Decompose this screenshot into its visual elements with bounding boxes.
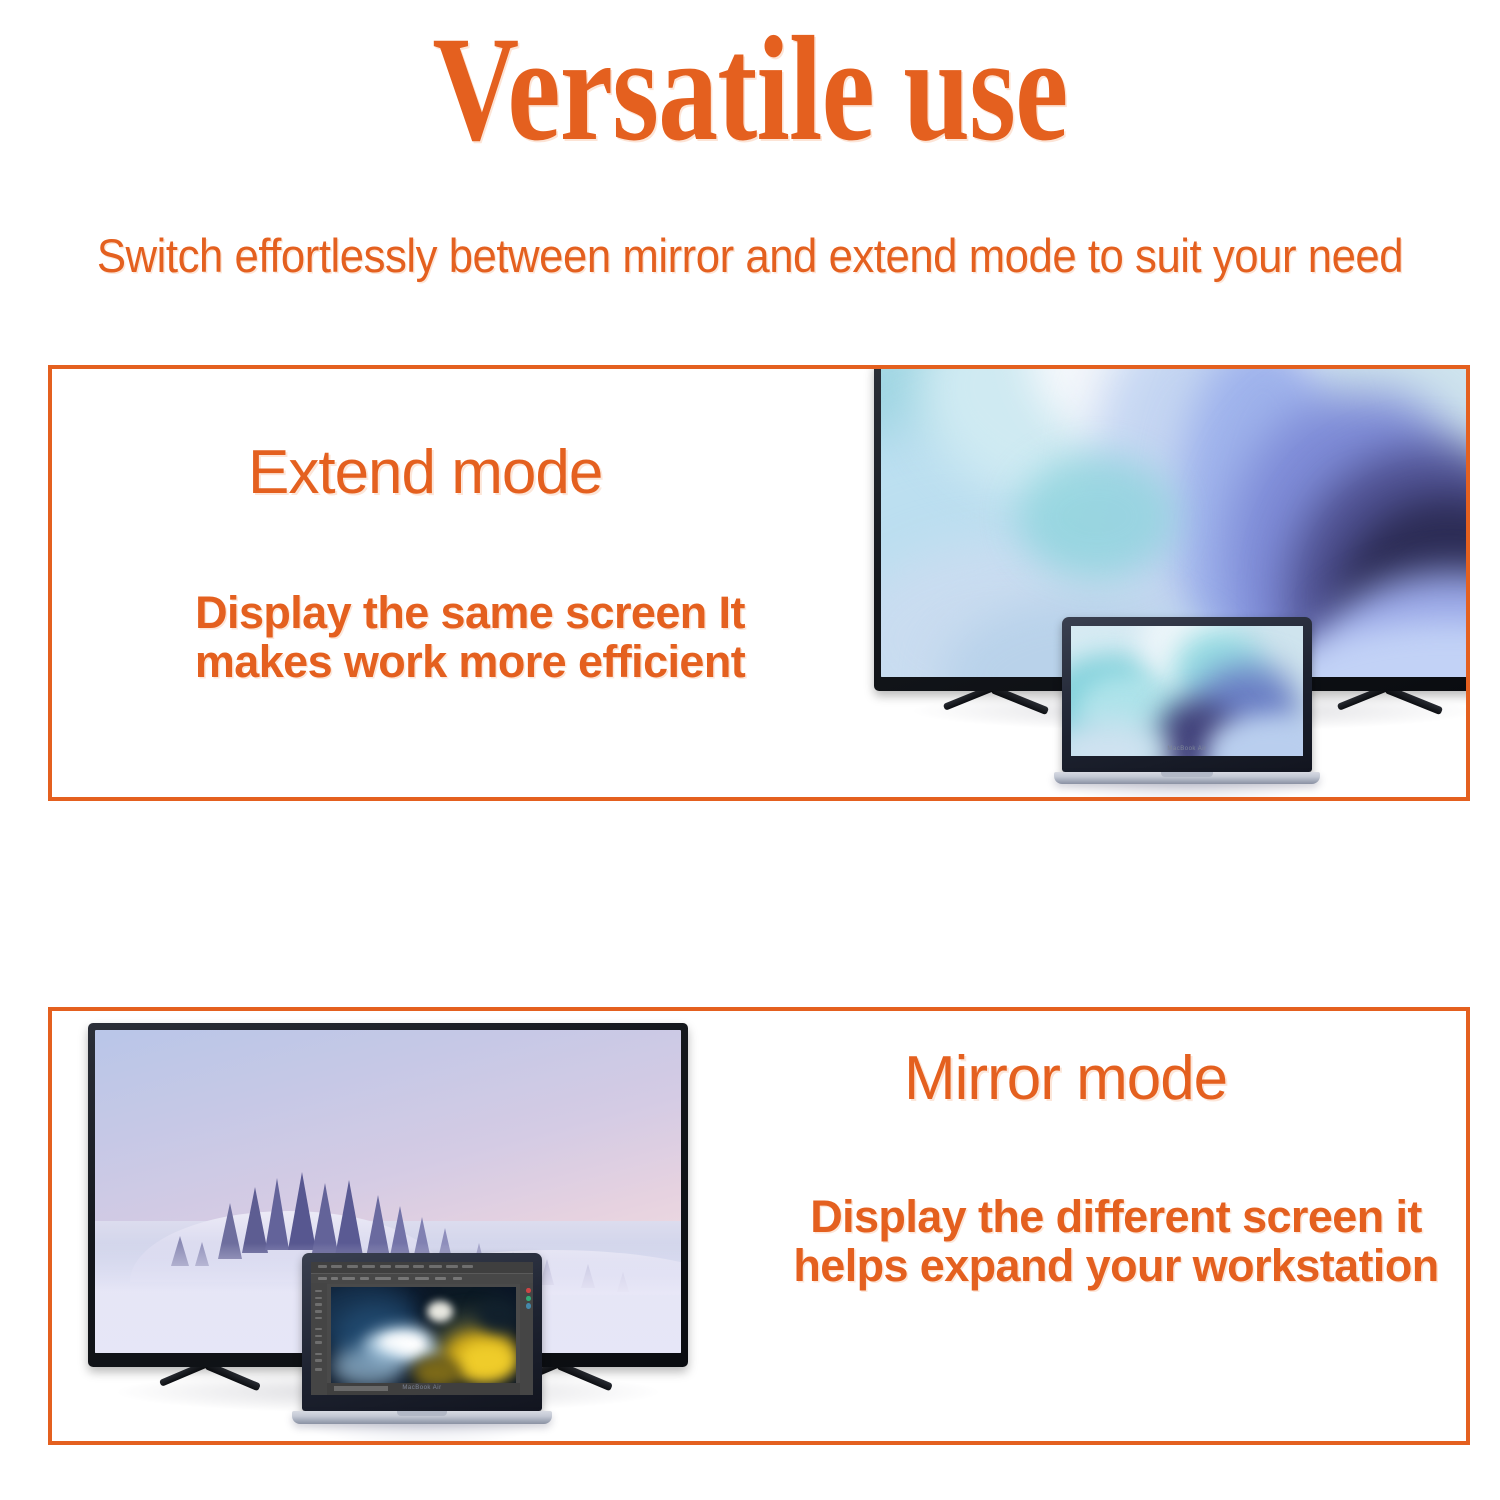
mirror-laptop-base-notch (397, 1411, 447, 1416)
extend-laptop-brand-label: MacBook Air (1167, 746, 1206, 752)
extend-laptop-wallpaper (1071, 626, 1303, 756)
extend-mode-description: Display the same screen It makes work mo… (160, 589, 780, 686)
mirror-laptop-screen: MacBook Air (311, 1262, 533, 1395)
photo-editor-app (311, 1262, 533, 1395)
editor-canvas-image (331, 1287, 516, 1383)
mirror-laptop-lid: MacBook Air (302, 1253, 542, 1411)
page-subtitle: Switch effortlessly between mirror and e… (53, 228, 1448, 283)
editor-panels-sidebar[interactable] (520, 1283, 533, 1395)
mirror-mode-title: Mirror mode (904, 1043, 1227, 1114)
extend-laptop-device: MacBook Air (1062, 617, 1312, 795)
extend-laptop-lid: MacBook Air (1062, 617, 1312, 772)
mirror-laptop-device: MacBook Air (302, 1253, 542, 1435)
editor-tool-bar[interactable] (311, 1273, 533, 1285)
panel-extend-mode: Extend mode Display the same screen It m… (48, 365, 1470, 801)
page-title: Versatile use (150, 14, 1350, 164)
extend-mode-title: Extend mode (248, 437, 602, 508)
mirror-mode-description: Display the different screen it helps ex… (766, 1193, 1466, 1290)
mirror-laptop-brand-label: MacBook Air (402, 1385, 441, 1391)
extend-laptop-screen: MacBook Air (1071, 626, 1303, 756)
editor-tools-panel[interactable] (311, 1283, 327, 1395)
winter-pine-tree (265, 1178, 289, 1250)
panel-mirror-mode: Mirror mode Display the different screen… (48, 1007, 1470, 1445)
editor-menu-bar[interactable] (311, 1262, 533, 1273)
product-feature-page: Versatile use Switch effortlessly betwee… (0, 0, 1500, 1500)
extend-laptop-base-notch (1161, 772, 1213, 777)
